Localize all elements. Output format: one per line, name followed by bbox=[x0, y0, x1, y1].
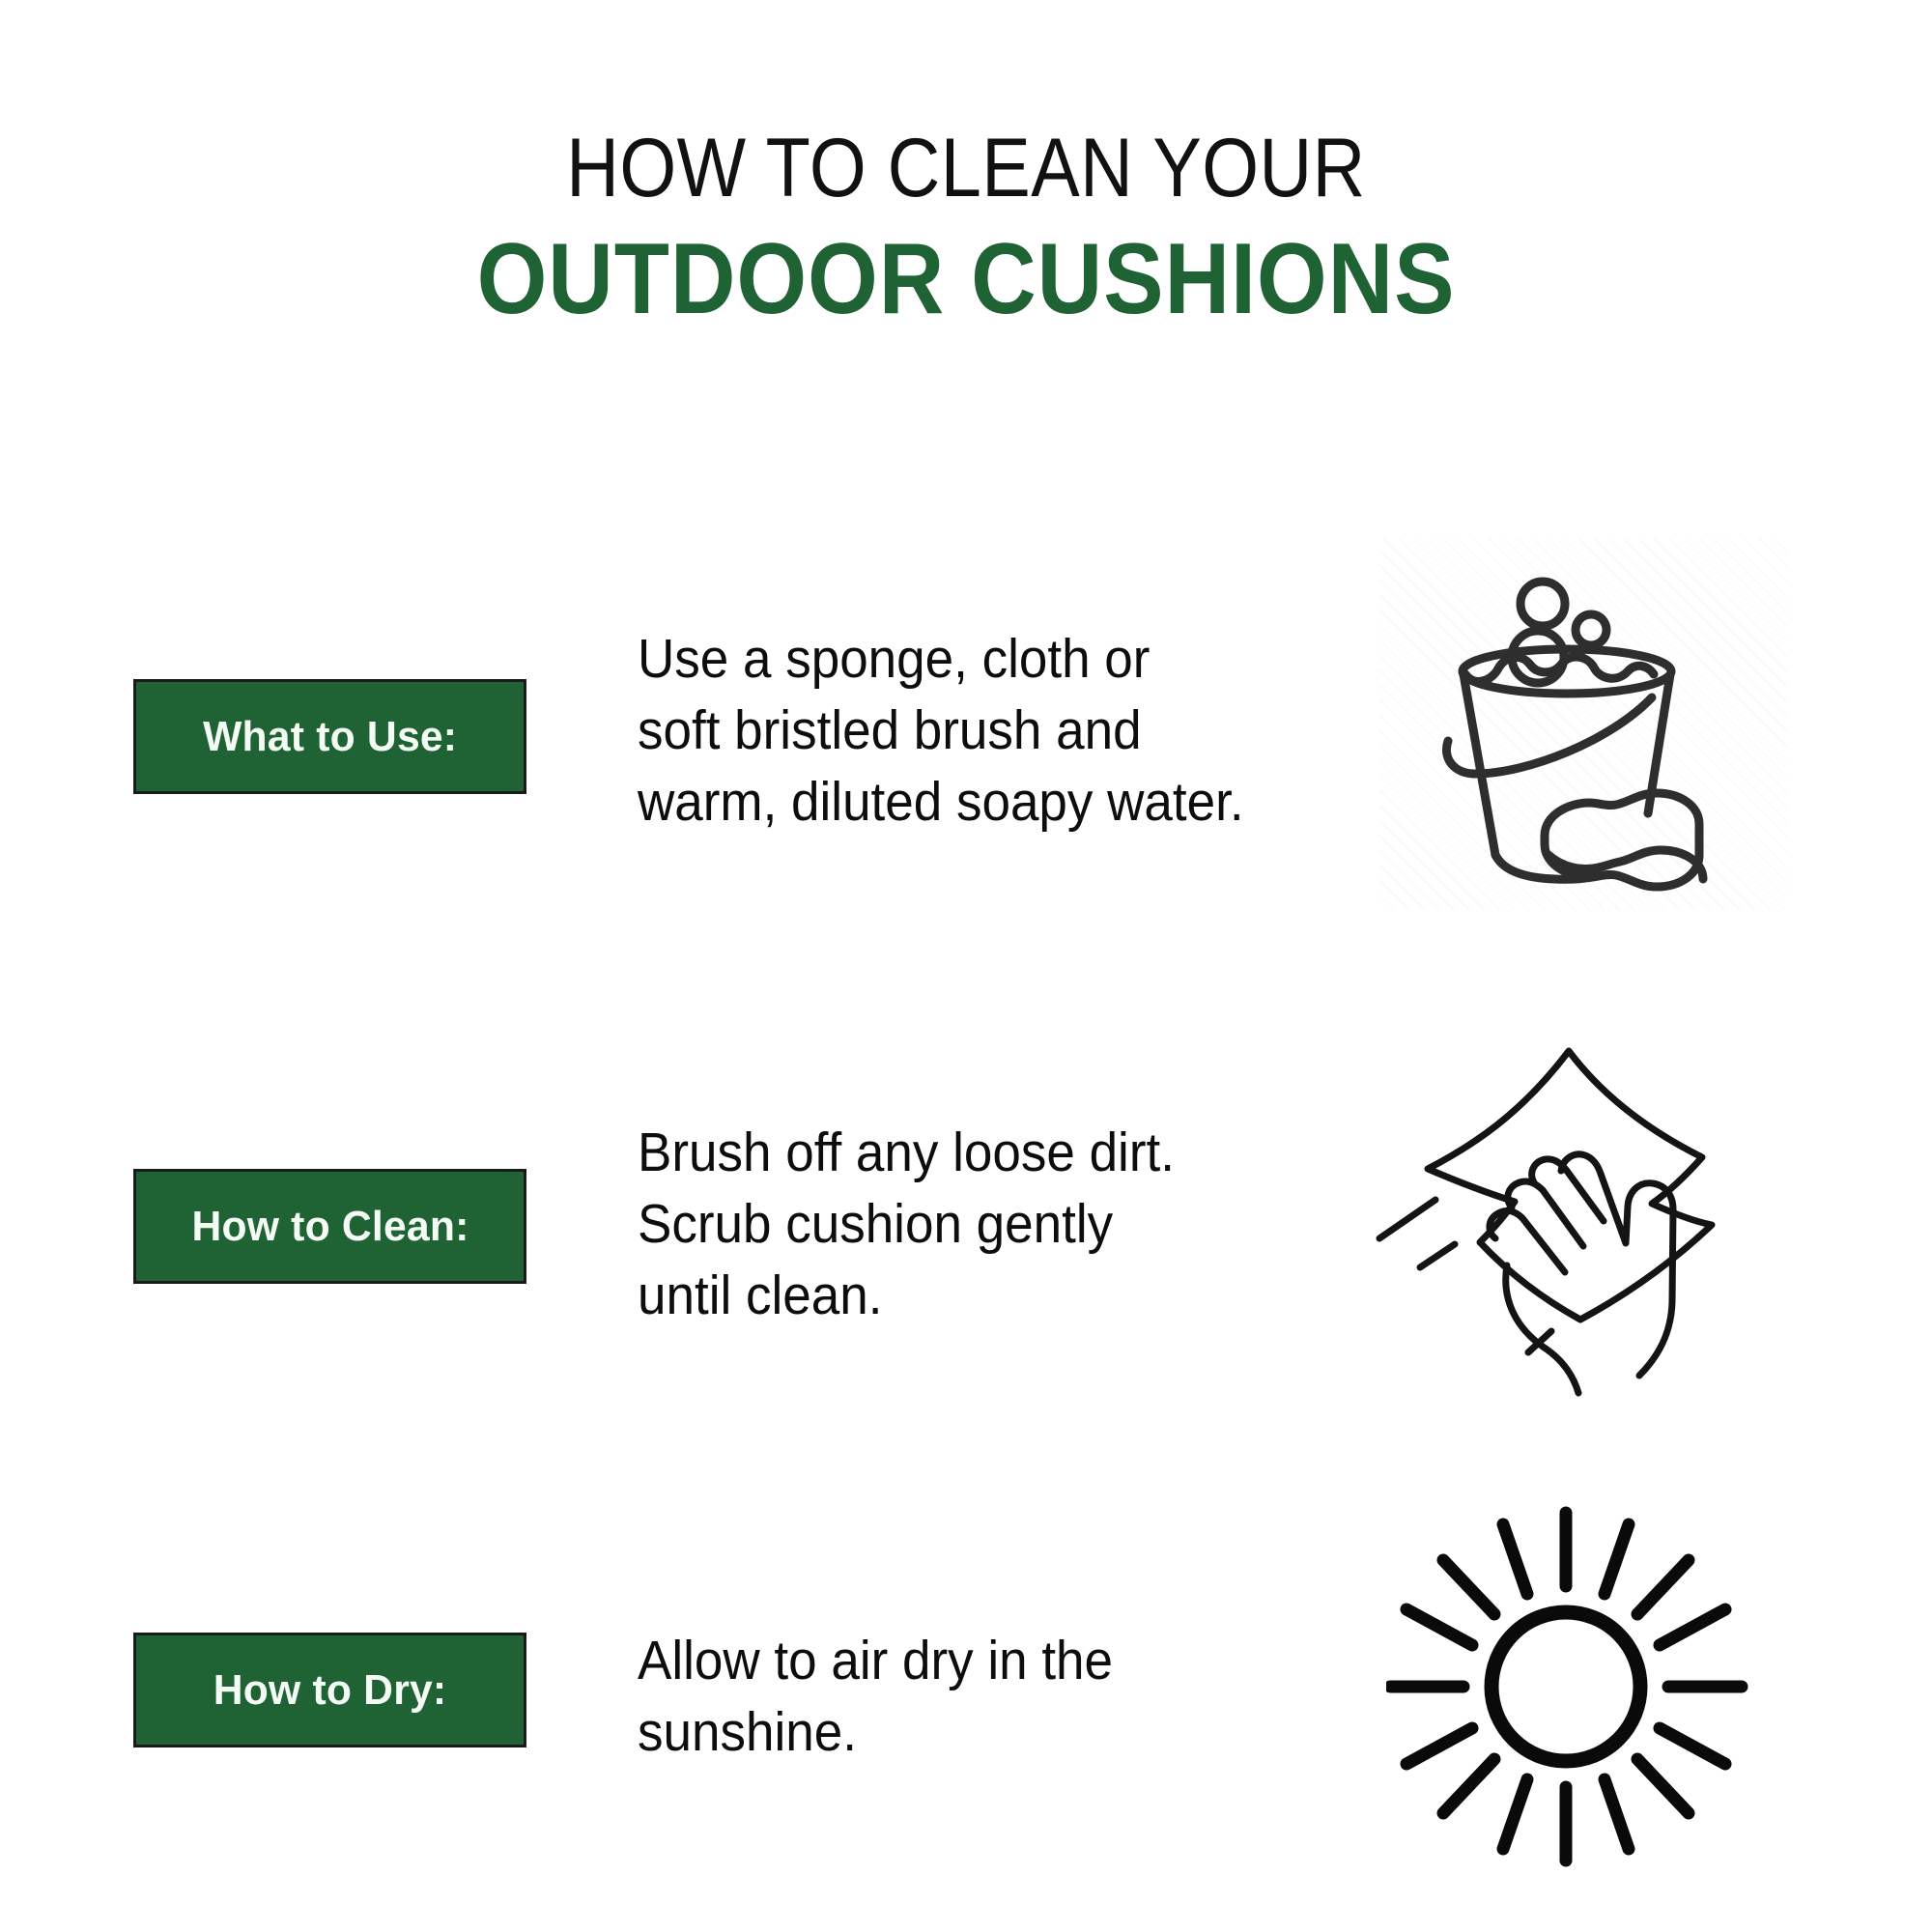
section-label-text: How to Dry: bbox=[213, 1666, 447, 1715]
section-body-text: Allow to air dry in the sunshine. bbox=[638, 1625, 1302, 1768]
section-how-to-clean: How to Clean: Brush off any loose dirt. … bbox=[0, 1014, 1932, 1430]
section-what-to-use: What to Use: Use a sponge, cloth or soft… bbox=[0, 526, 1932, 942]
section-body-text: Brush off any loose dirt. Scrub cushion … bbox=[638, 1117, 1302, 1331]
page-title-primary: HOW TO CLEAN YOUR bbox=[116, 126, 1816, 212]
section-label-chip: How to Clean: bbox=[133, 1169, 526, 1284]
sun-icon bbox=[1386, 1497, 1792, 1884]
section-label-chip: What to Use: bbox=[133, 679, 526, 794]
page-title-secondary: OUTDOOR CUSHIONS bbox=[97, 225, 1835, 333]
bucket-with-sponge-icon bbox=[1377, 536, 1782, 923]
section-label-text: How to Clean: bbox=[191, 1203, 469, 1251]
section-label-text: What to Use: bbox=[203, 713, 457, 761]
section-body-text: Use a sponge, cloth or soft bristled bru… bbox=[638, 623, 1302, 838]
hand-wiping-cloth-icon bbox=[1372, 1014, 1777, 1401]
page-header: HOW TO CLEAN YOUR OUTDOOR CUSHIONS bbox=[0, 126, 1932, 334]
infographic-page: HOW TO CLEAN YOUR OUTDOOR CUSHIONS What … bbox=[0, 0, 1932, 1932]
section-label-chip: How to Dry: bbox=[133, 1633, 526, 1747]
section-how-to-dry: How to Dry: Allow to air dry in the suns… bbox=[0, 1478, 1932, 1893]
